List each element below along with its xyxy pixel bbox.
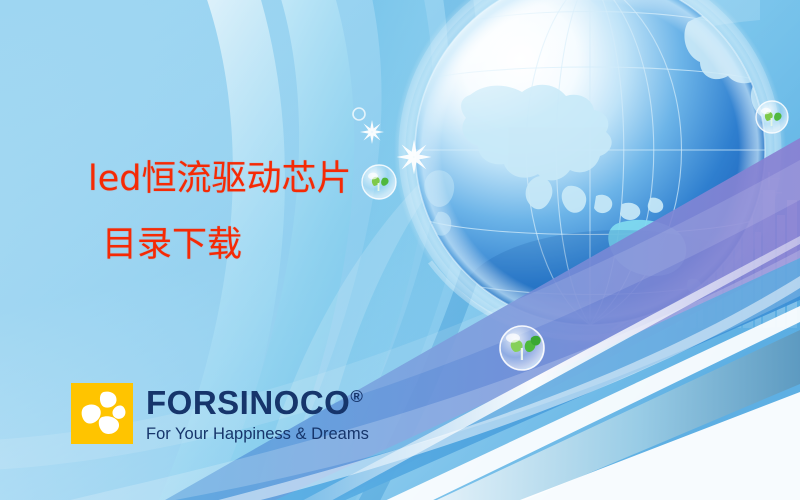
registered-trademark-icon: ® — [350, 387, 363, 406]
four-petal-pinwheel-mark — [71, 383, 133, 444]
bubble-with-green-pinwheel — [362, 165, 396, 199]
sparkle-star — [397, 140, 432, 175]
brand-name-word: FORSINOCO — [146, 384, 350, 421]
bubble-with-green-sprout — [500, 326, 544, 370]
brand-name: FORSINOCO® — [146, 386, 369, 419]
banner-image: led恒流驱动芯片 目录下载 FORSINOCO® — [0, 0, 800, 500]
brand-logo-lockup: FORSINOCO® For Your Happiness & Dreams — [71, 383, 369, 444]
brand-text-block: FORSINOCO® For Your Happiness & Dreams — [146, 383, 369, 443]
bubble-with-green-pinwheel — [756, 101, 788, 133]
sparkle-star — [360, 120, 384, 144]
pinwheel-icon — [71, 383, 133, 444]
brand-tagline: For Your Happiness & Dreams — [146, 426, 369, 443]
